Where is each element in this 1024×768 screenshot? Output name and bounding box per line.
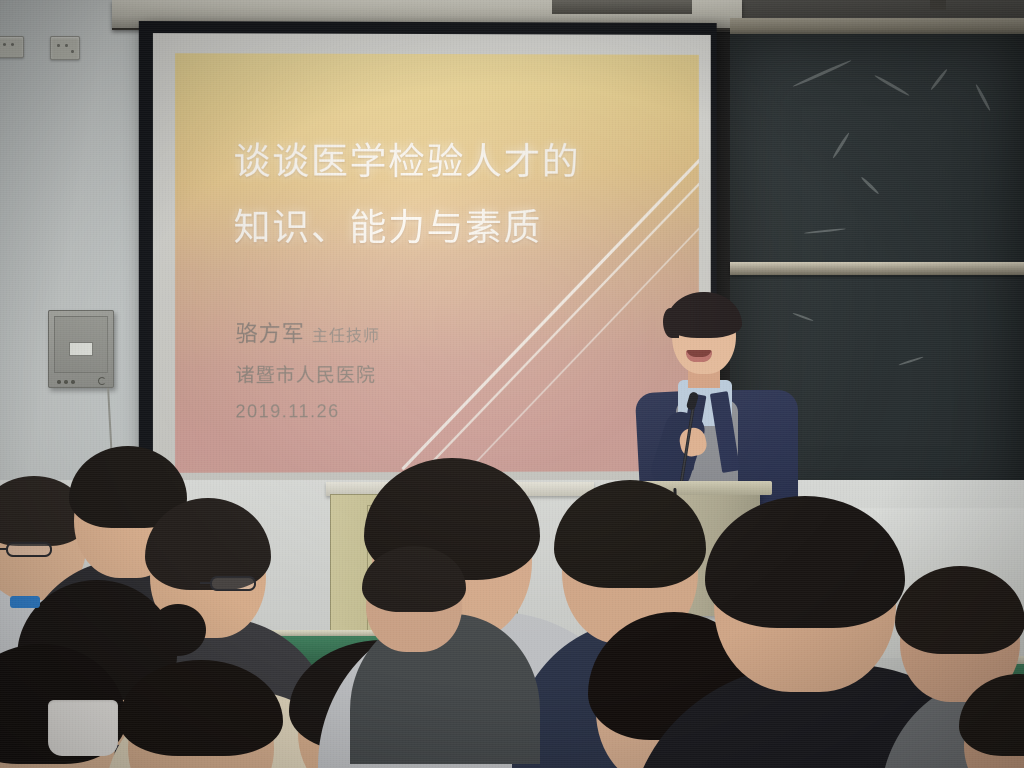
- lecture-hall-scene: 谈谈医学检验人才的 知识、能力与素质 骆方军主任技师 诸暨市人民医院 2019.…: [0, 0, 1024, 768]
- audience-far-right-edge-hair: [959, 674, 1024, 756]
- audience-far-right-edge: [0, 0, 1024, 768]
